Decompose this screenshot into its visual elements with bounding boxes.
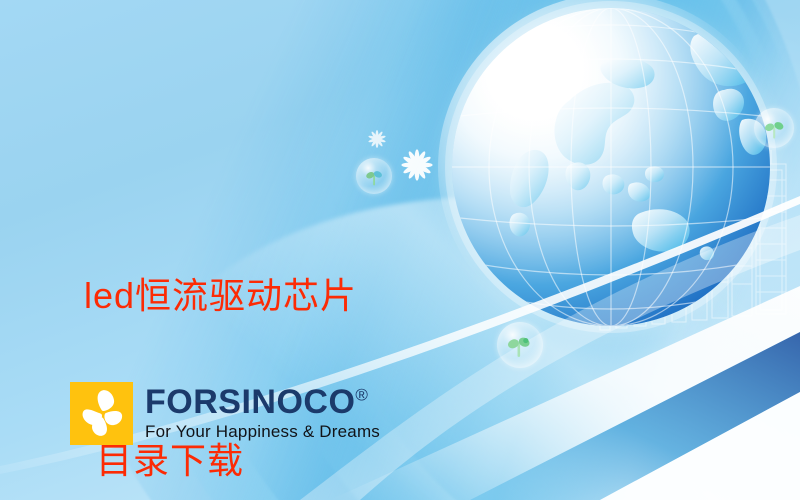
daisy-small-upper-icon [366,128,388,150]
brand-logo[interactable]: FORSINOCO® For Your Happiness & Dreams [70,382,380,445]
brand-tagline: For Your Happiness & Dreams [145,421,380,442]
brand-name: FORSINOCO [145,383,355,421]
promo-banner: led恒流驱动芯片 目录下载 FORSINOCO® For Your Happi… [0,0,800,500]
brand-text: FORSINOCO® For Your Happiness & Dreams [145,385,380,442]
brand-wordmark: FORSINOCO® [145,385,380,419]
headline-line-1: led恒流驱动芯片 [84,269,504,324]
forsinoco-pinwheel-icon [70,382,133,445]
headline-text: led恒流驱动芯片 目录下载 [84,160,504,500]
sprout-icon [763,117,785,139]
registered-mark: ® [355,386,368,405]
sprout-icon [507,332,533,358]
bubble-right [754,108,794,148]
